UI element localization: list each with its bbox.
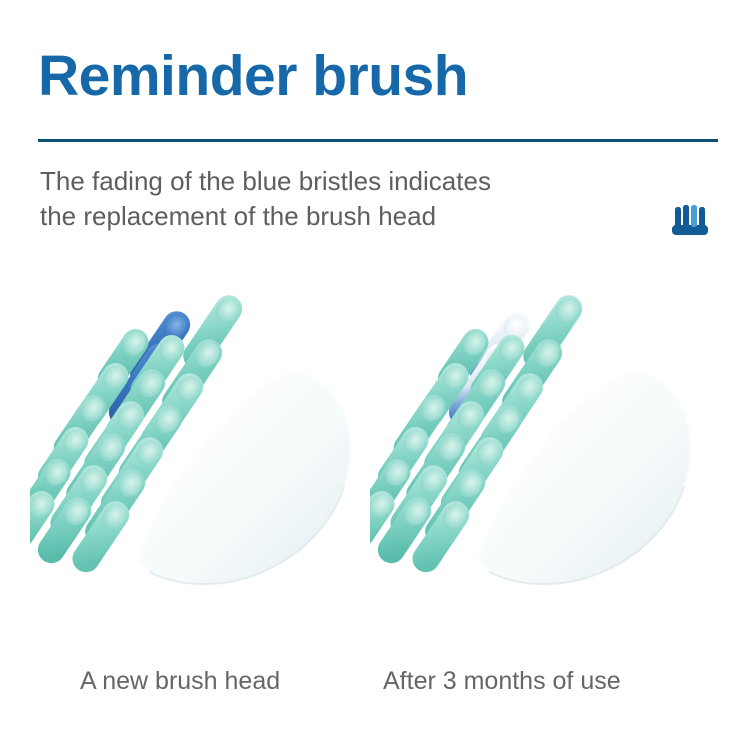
subtitle-line-1: The fading of the blue bristles indicate… <box>40 164 640 199</box>
page-title: Reminder brush <box>38 44 468 108</box>
title-divider <box>38 139 718 142</box>
caption-new-brush-head: A new brush head <box>80 665 280 697</box>
subtitle-line-2: the replacement of the brush head <box>40 199 640 234</box>
brush-head-bristles-icon <box>668 201 712 237</box>
brush-head-image-new <box>30 272 380 612</box>
page-subtitle: The fading of the blue bristles indicate… <box>40 164 640 234</box>
caption-used-brush-head: After 3 months of use <box>383 665 621 697</box>
brush-head-image-used <box>370 272 720 612</box>
infographic-page: Reminder brush The fading of the blue br… <box>0 0 750 748</box>
